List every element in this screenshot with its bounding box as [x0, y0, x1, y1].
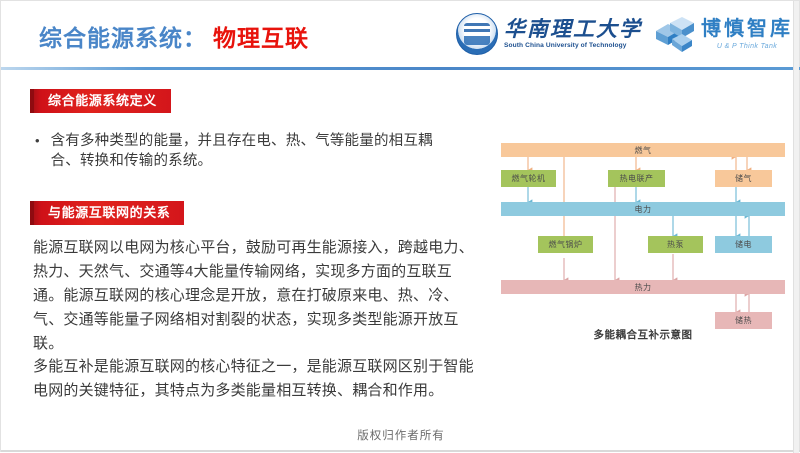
logo-scut-en: South China University of Technology	[504, 43, 642, 50]
page-title-main: 综合能源系统：	[39, 25, 207, 51]
diagram-node-gas-storage: 储气	[715, 170, 772, 187]
paragraph-multi-energy: 多能互补是能源互联网的核心特征之一，是能源互联网区别于智能电网的关键特征，其特点…	[33, 355, 475, 403]
logo-thinktank-text: 博慎智库 U & P Think Tank	[701, 19, 793, 50]
diagram-node-chp: 热电联产	[608, 170, 665, 187]
cube-blocks-icon	[652, 15, 696, 53]
page-title-accent: 物理互联	[213, 25, 309, 51]
copyright-text: 版权归作者所有	[1, 427, 800, 443]
content-left: 综合能源系统定义 • 含有多种类型的能量，并且存在电、热、气等能量的相互耦合、转…	[1, 79, 481, 424]
diagram-connectors	[493, 131, 793, 331]
slide-footer: 版权归作者所有	[1, 425, 800, 453]
slide-header: 综合能源系统：物理互联 华南理工大学 South China Universit…	[1, 1, 800, 68]
logo-thinktank: 博慎智库 U & P Think Tank	[652, 15, 793, 53]
header-divider	[1, 67, 800, 70]
diagram-node-gas-boiler: 燃气锅炉	[538, 236, 593, 253]
diagram-bar-electricity: 电力	[501, 202, 785, 216]
page-title: 综合能源系统：物理互联	[39, 19, 309, 53]
logo-thinktank-cn: 博慎智库	[701, 19, 793, 39]
logo-scut: 华南理工大学 South China University of Technol…	[456, 13, 642, 55]
bullet-item: • 含有多种类型的能量，并且存在电、热、气等能量的相互耦合、转换和传输的系统。	[35, 131, 455, 171]
paragraph-energy-internet: 能源互联网以电网为核心平台，鼓励可再生能源接入，跨越电力、热力、天然气、交通等4…	[33, 236, 475, 356]
logo-thinktank-en: U & P Think Tank	[701, 43, 793, 50]
diagram-node-electricity-storage: 储电	[715, 236, 772, 253]
slide: 综合能源系统：物理互联 华南理工大学 South China Universit…	[0, 0, 800, 452]
diagram-bar-heat: 热力	[501, 280, 785, 294]
diagram-node-gas-turbine: 燃气轮机	[501, 170, 556, 187]
section-heading-relation: 与能源互联网的关系	[30, 201, 184, 225]
diagram-bar-gas: 燃气	[501, 143, 785, 157]
diagram-caption: 多能耦合互补示意图	[493, 327, 793, 342]
university-seal-icon	[456, 13, 498, 55]
diagram-multi-energy-coupling: 燃气 电力 热力 燃气轮机 热电联产 储气 燃气锅炉 热泵 储电 储热 多能耦合…	[493, 131, 793, 361]
scrollbar-track[interactable]	[793, 1, 799, 453]
logo-scut-text: 华南理工大学 South China University of Technol…	[504, 19, 642, 50]
bullet-marker-icon: •	[35, 131, 40, 171]
section-heading-definition: 综合能源系统定义	[30, 89, 171, 113]
logo-scut-cn: 华南理工大学	[504, 19, 642, 40]
diagram-node-heat-pump: 热泵	[648, 236, 703, 253]
logo-group: 华南理工大学 South China University of Technol…	[456, 9, 793, 59]
bullet-text: 含有多种类型的能量，并且存在电、热、气等能量的相互耦合、转换和传输的系统。	[51, 131, 455, 171]
